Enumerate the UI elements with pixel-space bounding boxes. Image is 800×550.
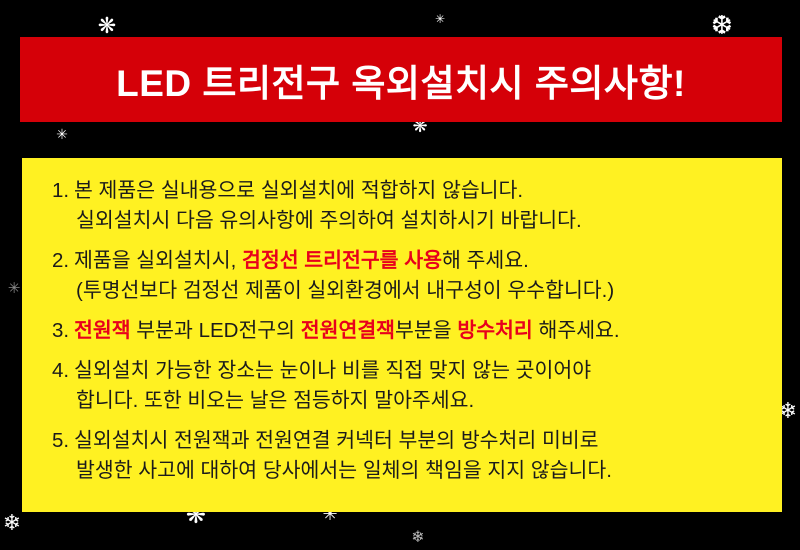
snowflake-icon: ❆ [704,12,740,38]
notice-item: 1.본 제품은 실내용으로 실외설치에 적합하지 않습니다.실외설치시 다음 유… [22,176,782,236]
notice-text: 해 주세요. [442,249,529,272]
notice-text: 해주세요. [533,319,620,342]
notice-list: 1.본 제품은 실내용으로 실외설치에 적합하지 않습니다.실외설치시 다음 유… [22,158,782,512]
notice-text: 본 제품은 실내용으로 실외설치에 적합하지 않습니다. [74,179,523,202]
highlighted-text: 전원연결잭 [301,319,395,342]
notice-text: 발생한 사고에 대하여 당사에서는 일체의 책임을 지지 않습니다. [76,459,612,482]
notice-item-line: 제품을 실외설치시, 검정선 트리전구를 사용해 주세요. [74,246,768,276]
notice-text: 합니다. 또한 비오는 날은 점등하지 말아주세요. [76,389,474,412]
notice-text: 실외설치시 전원잭과 전원연결 커넥터 부분의 방수처리 미비로 [74,429,599,452]
notice-text: 실외설치 가능한 장소는 눈이나 비를 직접 맞지 않는 곳이어야 [74,359,591,382]
title-banner: LED 트리전구 옥외설치시 주의사항! [20,37,782,122]
notice-item: 4.실외설치 가능한 장소는 눈이나 비를 직접 맞지 않는 곳이어야합니다. … [22,356,782,416]
poster-canvas: ❋✳❆✳❋✳❄❄❋✳❄ LED 트리전구 옥외설치시 주의사항! 1.본 제품은… [0,0,800,550]
snowflake-icon: ✳ [432,13,449,25]
notice-item-line: 합니다. 또한 비오는 날은 점등하지 말아주세요. [74,386,768,416]
notice-item-line: 발생한 사고에 대하여 당사에서는 일체의 책임을 지지 않습니다. [74,456,768,486]
notice-item-line: 본 제품은 실내용으로 실외설치에 적합하지 않습니다. [74,176,768,206]
notice-item-number: 2. [52,246,69,276]
notice-item-number: 4. [52,356,69,386]
page-title: LED 트리전구 옥외설치시 주의사항! [116,53,686,107]
notice-item-number: 1. [52,176,69,206]
notice-item-number: 5. [52,426,69,456]
notice-item: 3.전원잭 부분과 LED전구의 전원연결잭부분을 방수처리 해주세요. [22,316,782,346]
notice-item-line: 전원잭 부분과 LED전구의 전원연결잭부분을 방수처리 해주세요. [74,316,768,346]
notice-text: 실외설치시 다음 유의사항에 주의하여 설치하시기 바랍니다. [76,209,582,232]
notice-text: (투명선보다 검정선 제품이 실외환경에서 내구성이 우수합니다.) [76,279,614,302]
notice-text: 부분과 LED전구의 [131,319,301,342]
notice-text: 제품을 실외설치시, [74,249,242,272]
highlighted-text: 검정선 트리전구를 사용 [242,249,442,272]
notice-item-line: 실외설치시 전원잭과 전원연결 커넥터 부분의 방수처리 미비로 [74,426,768,456]
snowflake-icon: ❄ [407,530,429,546]
highlighted-text: 방수처리 [457,319,532,342]
notice-text: 부분을 [395,319,457,342]
highlighted-text: 전원잭 [74,319,131,342]
snowflake-icon: ❋ [92,15,123,37]
notice-item-number: 3. [52,316,69,346]
notice-item-line: 실외설치 가능한 장소는 눈이나 비를 직접 맞지 않는 곳이어야 [74,356,768,386]
notice-item-line: (투명선보다 검정선 제품이 실외환경에서 내구성이 우수합니다.) [74,276,768,306]
notice-item: 5.실외설치시 전원잭과 전원연결 커넥터 부분의 방수처리 미비로발생한 사고… [22,426,782,486]
notice-item: 2.제품을 실외설치시, 검정선 트리전구를 사용해 주세요.(투명선보다 검정… [22,246,782,306]
snowflake-icon: ✳ [52,127,72,141]
notice-item-line: 실외설치시 다음 유의사항에 주의하여 설치하시기 바랍니다. [74,206,768,236]
snowflake-icon: ❄ [0,512,27,534]
